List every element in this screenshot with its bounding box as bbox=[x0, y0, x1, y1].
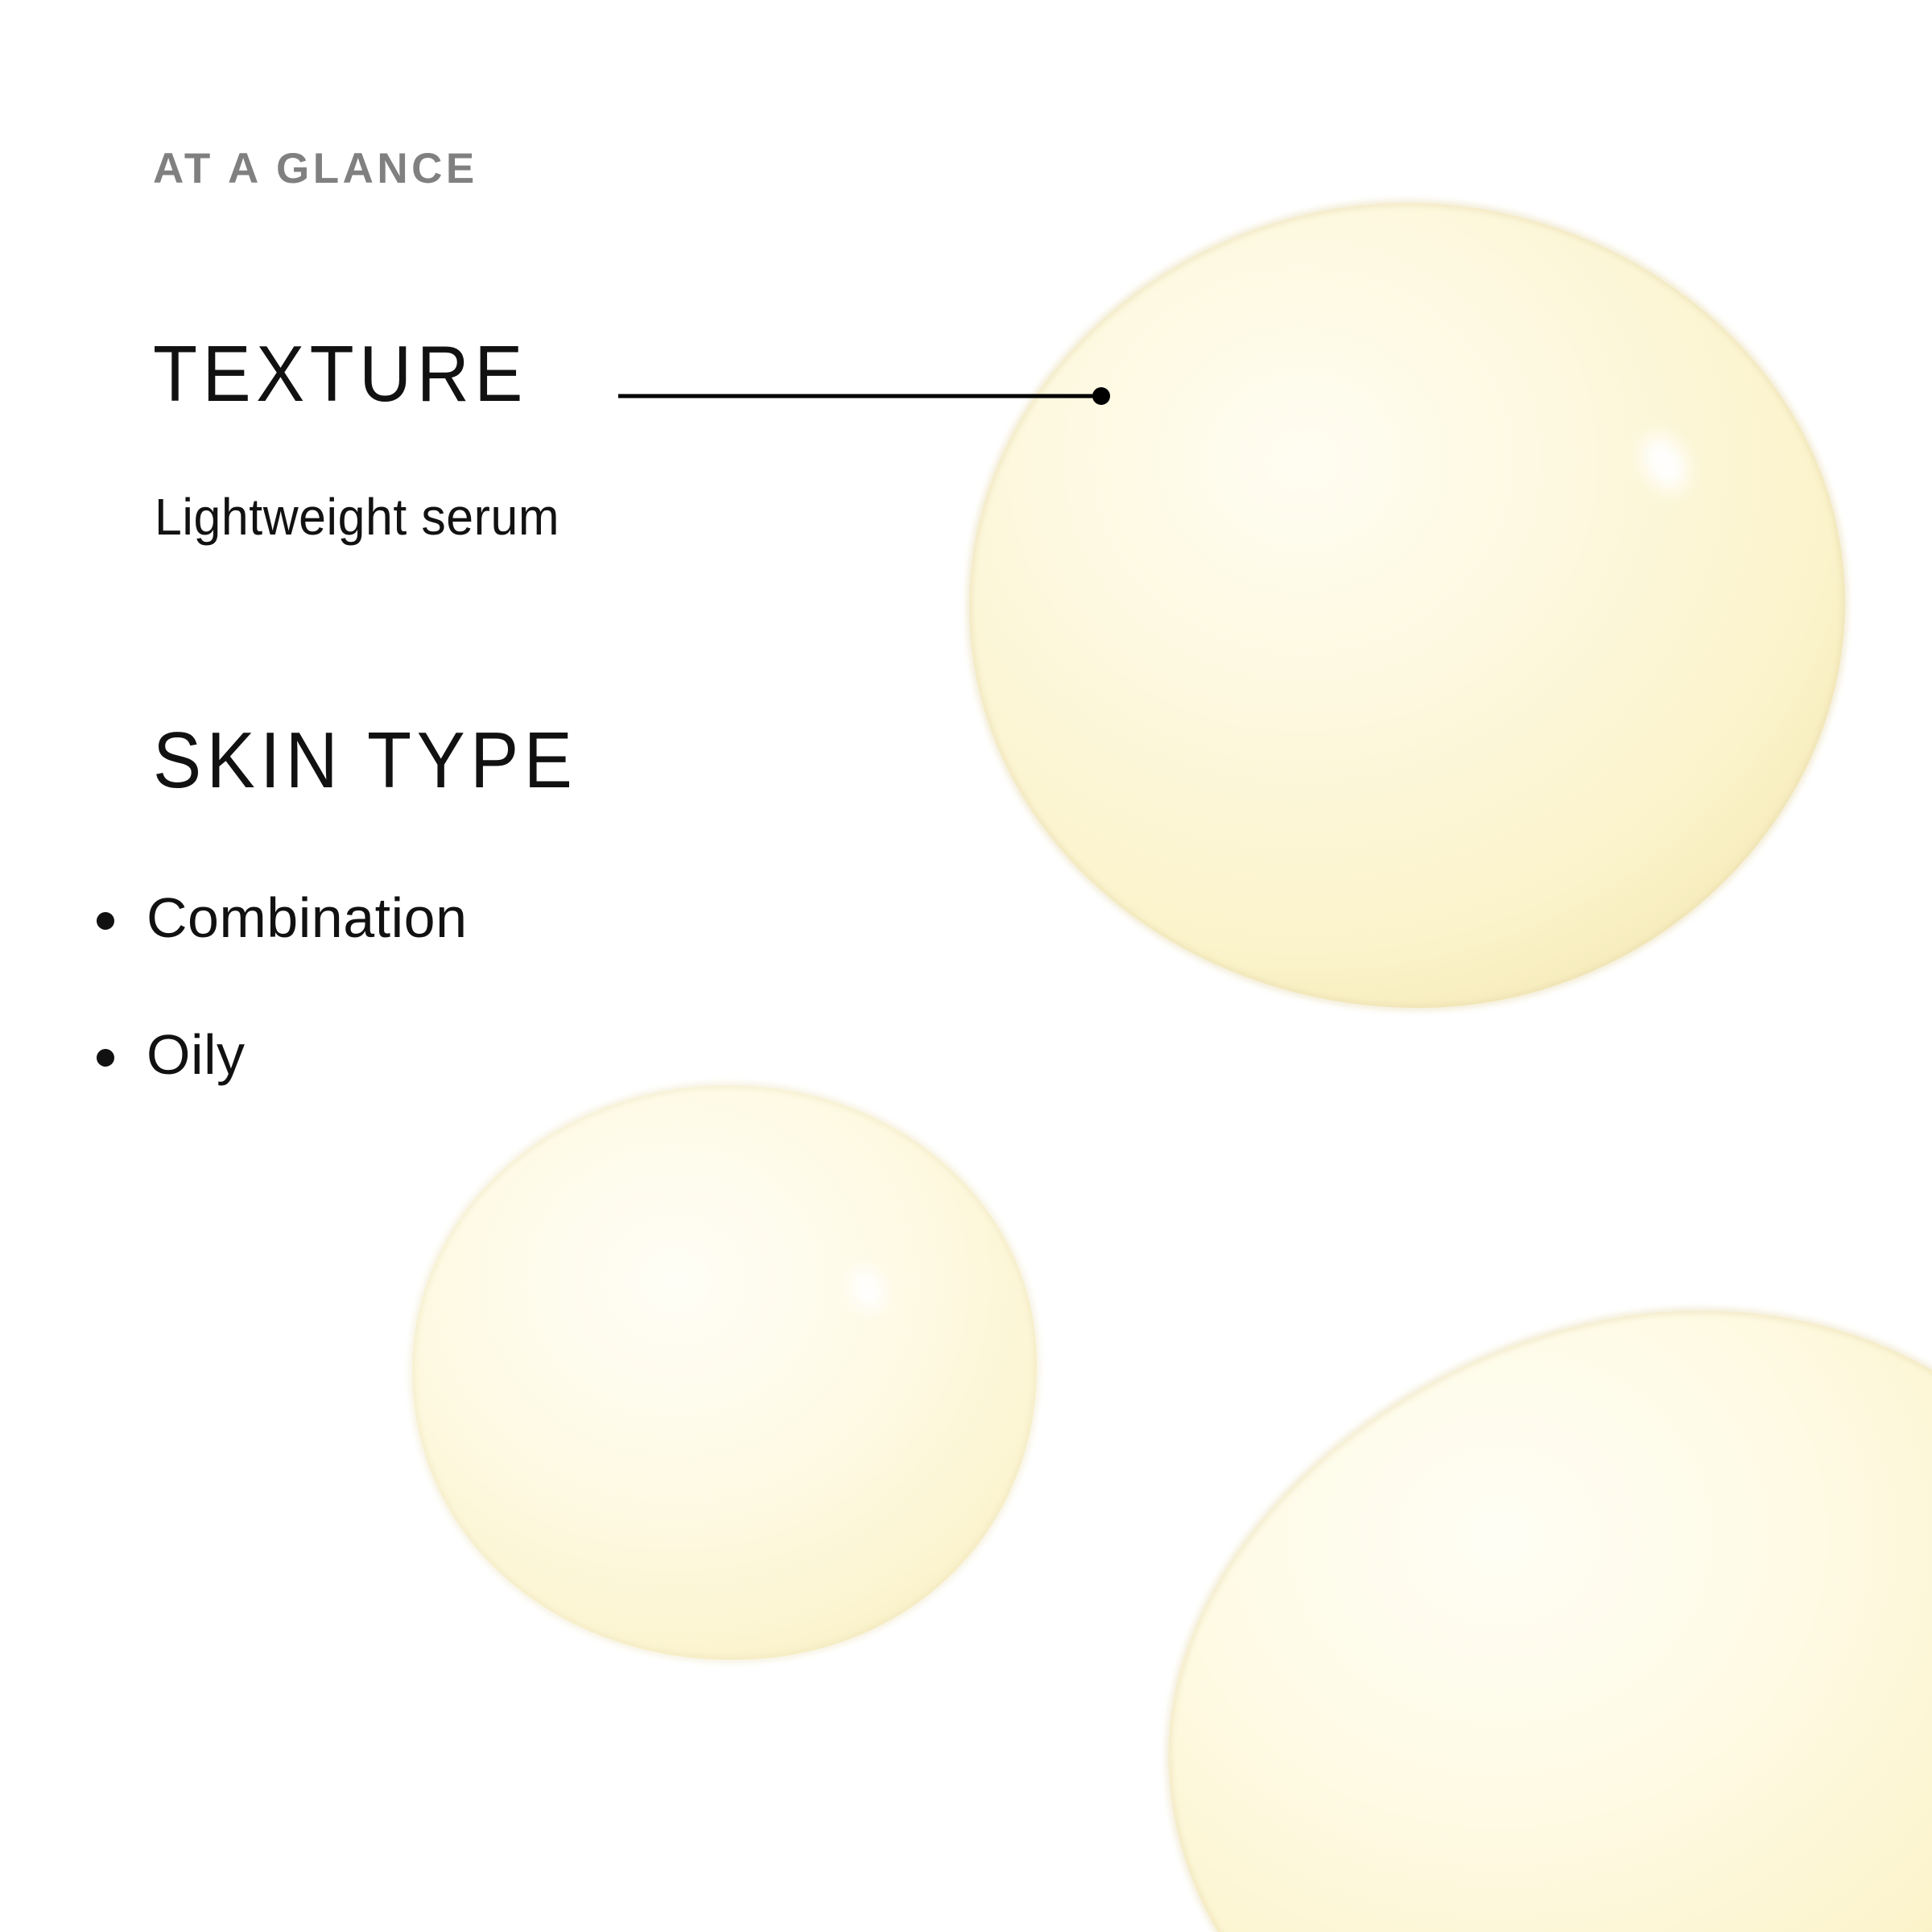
skin-type-item-label: Combination bbox=[147, 890, 468, 946]
skin-type-list: Combination Oily bbox=[97, 890, 468, 1163]
bullet-dot-icon bbox=[97, 1049, 114, 1067]
texture-heading: TEXTURE bbox=[153, 334, 528, 413]
droplet-highlight-medium-center bbox=[837, 1255, 899, 1323]
callout-endpoint-dot bbox=[1092, 387, 1110, 405]
product-at-a-glance-graphic: AT A GLANCE TEXTURE Lightweight serum SK… bbox=[0, 0, 1932, 1932]
serum-droplet-medium-center bbox=[412, 1085, 1037, 1660]
serum-droplet-large-bottom-right bbox=[1168, 1311, 1932, 1932]
skin-type-heading: SKIN TYPE bbox=[153, 720, 577, 799]
bullet-dot-icon bbox=[97, 912, 114, 930]
texture-value: Lightweight serum bbox=[155, 491, 559, 543]
section-eyebrow: AT A GLANCE bbox=[153, 147, 478, 192]
droplet-highlight-large-top bbox=[1624, 417, 1706, 509]
serum-droplet-large-top bbox=[969, 203, 1845, 1008]
list-item: Combination bbox=[97, 890, 468, 946]
list-item: Oily bbox=[97, 1026, 468, 1083]
skin-type-item-label: Oily bbox=[147, 1026, 246, 1083]
